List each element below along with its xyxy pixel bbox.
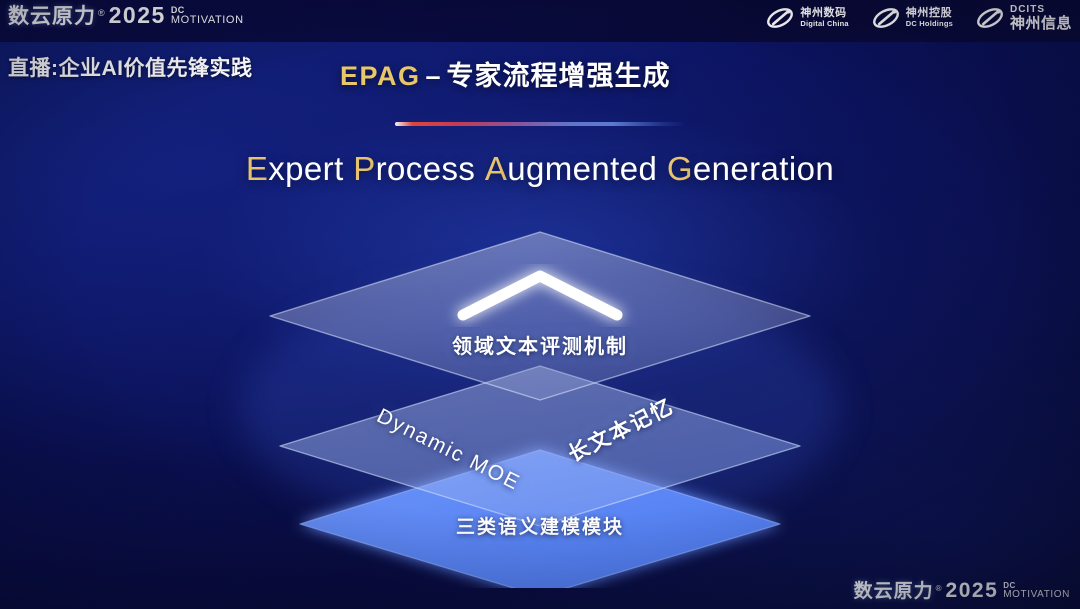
swoosh-icon [871,5,901,31]
partner-logo-group: 神州数码 Digital China 神州控股 DC Holdings [765,5,1072,31]
subtitle-cap-p: P [353,150,375,187]
brand-name-cn: 数云原力 [8,6,96,27]
layered-architecture-diagram: 领域文本评测机制 Dynamic MOE 长文本记忆 三类语义建模模块 [0,218,1080,588]
watermark-dc-motivation: DC MOTIVATION [1000,582,1070,601]
slide-canvas: 数云原力 ® 2025 DC MOTIVATION 神州数码 Digital C… [0,0,1080,609]
brand-dc-line2: MOTIVATION [171,15,244,26]
watermark-year: 2025 [944,580,999,601]
watermark-name-cn: 数云原力 [854,582,934,601]
partner-text: 神州数码 Digital China [800,8,848,27]
subtitle-cap-a: A [485,150,507,187]
subtitle-expansion: Expert Process Augmented Generation [0,150,1080,188]
partner-name-cn: 神州信息 [1010,16,1072,32]
page-title: EPAG–专家流程增强生成 [340,54,671,93]
partner-logo-dc-holdings: 神州控股 DC Holdings [871,5,953,31]
brand-logo-watermark: 数云原力 ® 2025 DC MOTIVATION [854,580,1070,601]
partner-name-en: DC Holdings [906,20,953,28]
title-divider [395,122,685,126]
subtitle-word-expert: xpert [268,150,343,187]
swoosh-icon [765,5,795,31]
subtitle-cap-g: G [667,150,693,187]
layer-label-top: 领域文本评测机制 [0,330,1080,359]
brand-logo-header: 数云原力 ® 2025 DC MOTIVATION [8,4,244,27]
title-chinese: 专家流程增强生成 [447,61,671,91]
watermark-dc-line2: MOTIVATION [1003,590,1070,600]
brand-dc-motivation: DC MOTIVATION [168,6,244,27]
title-dash: – [421,61,447,91]
subtitle-cap-e: E [246,150,268,187]
watermark-registered-mark: ® [936,585,942,601]
partner-text: 神州控股 DC Holdings [906,8,953,27]
partner-name-en: Digital China [800,20,848,28]
title-acronym: EPAG [340,61,421,91]
live-session-title: 直播:企业AI价值先锋实践 [8,52,253,82]
swoosh-icon [975,5,1005,31]
partner-logo-dcits: DCITS 神州信息 [975,5,1072,31]
subtitle-word-process: rocess [376,150,476,187]
partner-text: DCITS 神州信息 [1010,5,1072,31]
layer-label-bottom: 三类语义建模模块 [0,512,1080,539]
brand-registered-mark: ® [98,9,105,27]
partner-logo-digital-china: 神州数码 Digital China [765,5,848,31]
subtitle-word-generation: eneration [693,150,834,187]
subtitle-word-augmented: ugmented [507,150,657,187]
partner-name-en: DCITS [1010,5,1072,16]
brand-year: 2025 [107,4,166,27]
